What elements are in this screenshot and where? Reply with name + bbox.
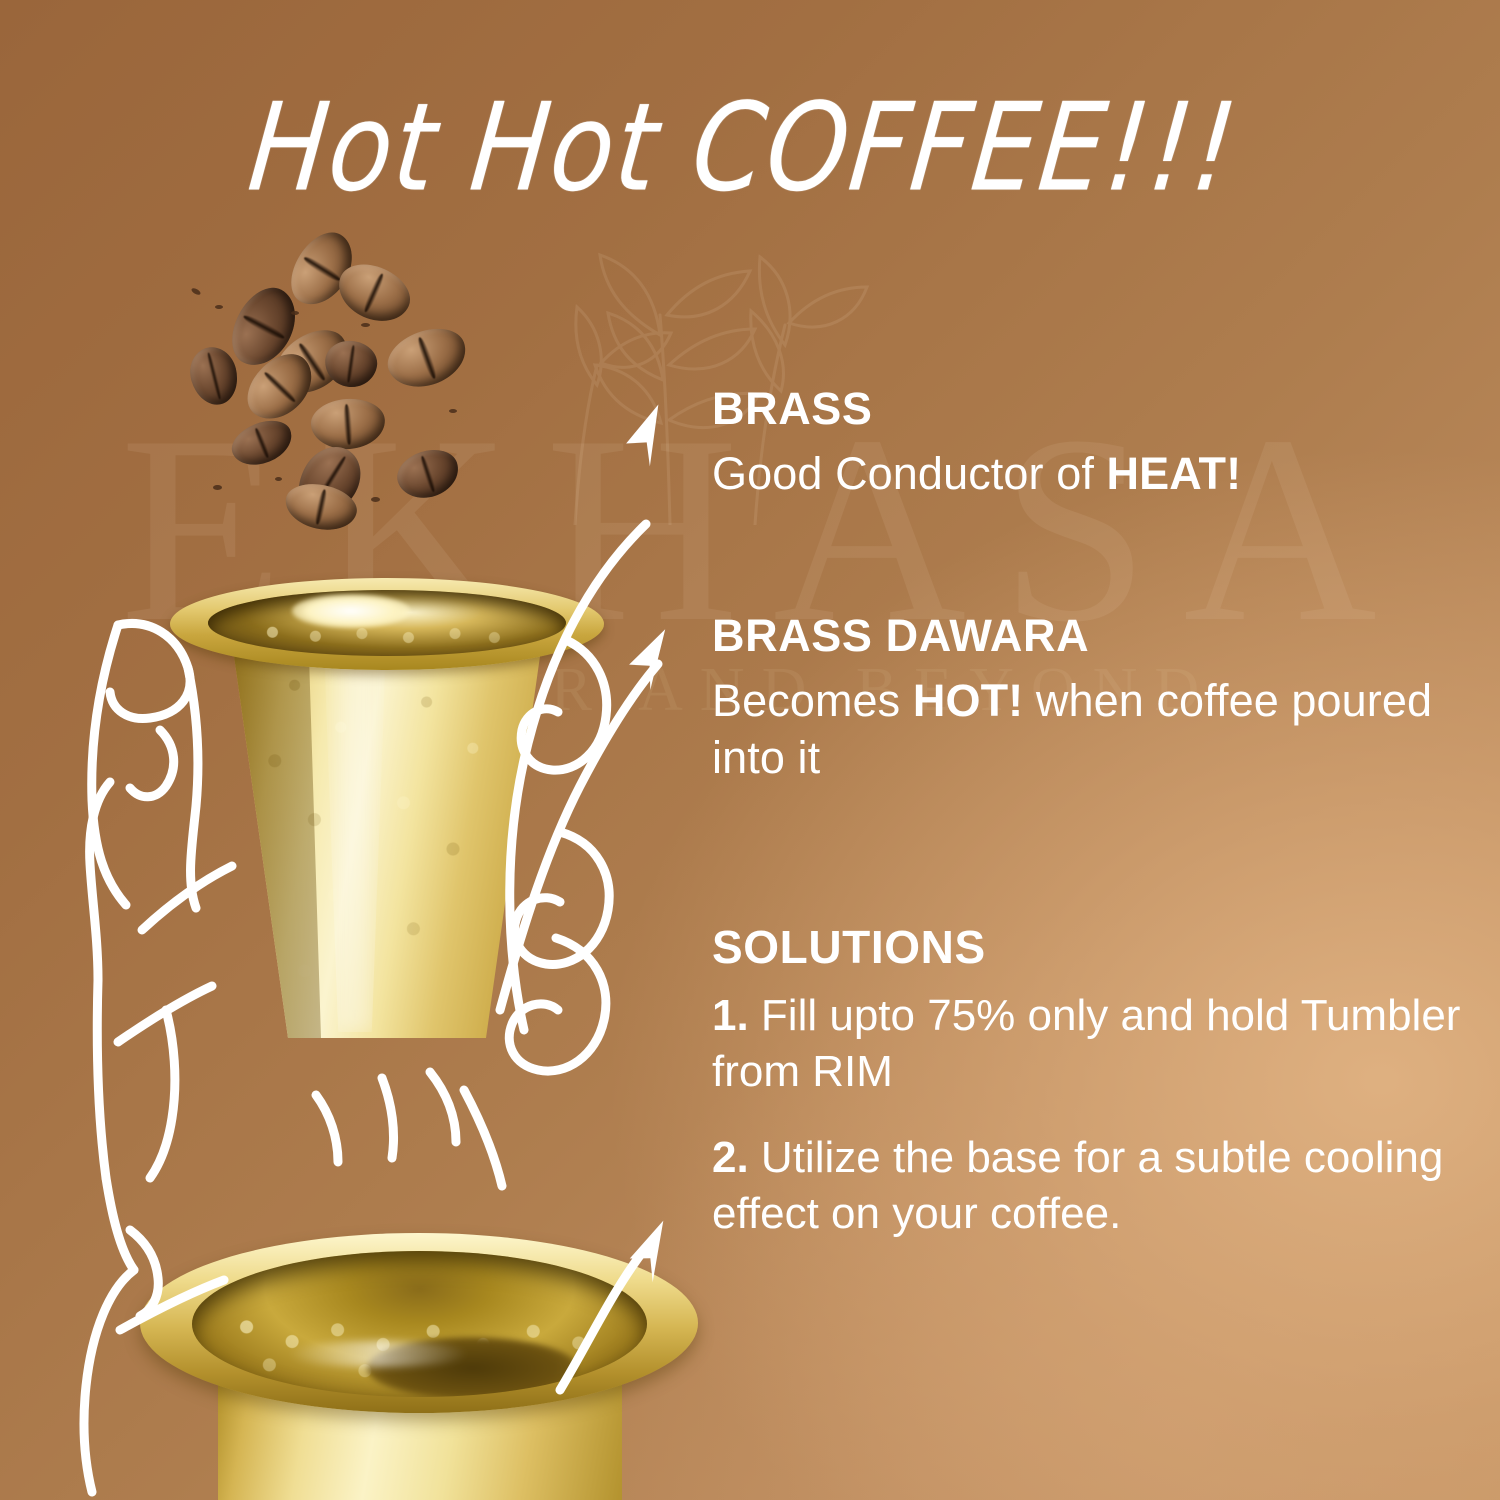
hand-wrist-left xyxy=(84,1270,134,1492)
callout-dawara-body-emphasis: HOT! xyxy=(913,675,1023,726)
brass-tumbler xyxy=(170,560,620,1060)
solution-item-1-text: Fill upto 75% only and hold Tumbler from… xyxy=(712,991,1460,1096)
hand-palm-lower-left xyxy=(106,1178,134,1270)
brass-dawara xyxy=(140,1215,710,1500)
arrow-heads xyxy=(618,404,688,1286)
hand-palm-left xyxy=(97,980,106,1178)
solution-item-2-number: 2. xyxy=(712,1133,749,1182)
solution-item-2: 2. Utilize the base for a subtle cooling… xyxy=(712,1130,1472,1242)
callout-brass-body-pre: Good Conductor of xyxy=(712,448,1107,499)
callout-brass: BRASS Good Conductor of HEAT! xyxy=(712,385,1472,503)
callout-brass-heading: BRASS xyxy=(712,385,1472,432)
hand-knuckle-crease xyxy=(130,730,174,797)
page-title: Hot Hot COFFEE!!! xyxy=(0,88,1500,210)
infographic-poster: EKHASA DECOR AND BEYOND Hot Hot COFFEE!!… xyxy=(0,0,1500,1500)
callout-brass-body-emphasis: HEAT! xyxy=(1107,448,1242,499)
hand-finger-stub-b xyxy=(382,1078,394,1158)
callout-brass-body: Good Conductor of HEAT! xyxy=(712,446,1472,503)
hand-finger-stub-d xyxy=(464,1090,502,1186)
arrowhead-dawara xyxy=(622,629,686,693)
dawara-interior xyxy=(192,1251,647,1397)
solutions-block: SOLUTIONS 1. Fill upto 75% only and hold… xyxy=(712,920,1472,1242)
hand-finger-stub-a xyxy=(316,1095,338,1162)
tumbler-highlight xyxy=(292,594,410,628)
callout-dawara-body-pre: Becomes xyxy=(712,675,913,726)
solution-item-1-number: 1. xyxy=(712,991,749,1040)
hand-palm-upper-left xyxy=(90,782,110,980)
hand-finger-stub-c xyxy=(430,1072,456,1142)
tumbler-body xyxy=(222,618,552,1038)
arrowhead-brass xyxy=(618,404,684,470)
callout-dawara-body: Becomes HOT! when coffee poured into it xyxy=(712,673,1472,786)
callout-dawara-heading: BRASS DAWARA xyxy=(712,612,1472,659)
hand-thumb-left-edge xyxy=(92,625,126,905)
dawara-highlight xyxy=(288,1341,468,1367)
solution-item-1: 1. Fill upto 75% only and hold Tumbler f… xyxy=(712,988,1472,1100)
solutions-heading: SOLUTIONS xyxy=(712,920,1472,974)
callout-dawara: BRASS DAWARA Becomes HOT! when coffee po… xyxy=(712,612,1472,787)
solution-item-2-text: Utilize the base for a subtle cooling ef… xyxy=(712,1133,1443,1238)
coffee-beans xyxy=(175,235,485,535)
